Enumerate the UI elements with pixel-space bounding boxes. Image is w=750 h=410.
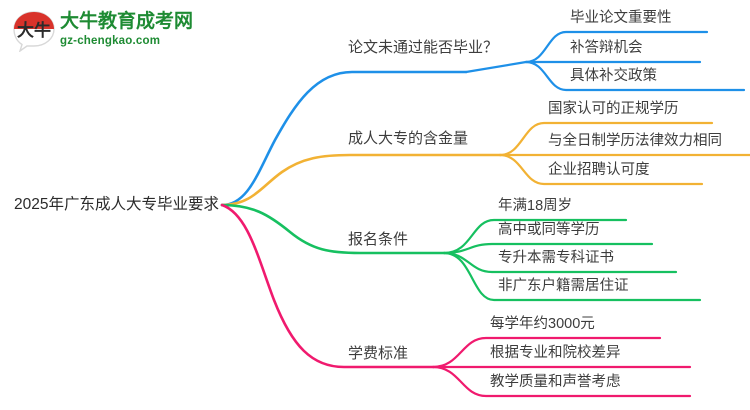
leaf-label-2-3: 企业招聘认可度 [548,163,650,178]
branch-line-2 [222,155,500,205]
logo-site-name: 大牛教育成考网 [60,11,192,33]
logo-wordmark: 大牛教育成考网 gz-chengkao.com [60,11,192,48]
branch-line-3 [222,205,444,253]
site-logo: 大牛 大牛教育成考网 gz-chengkao.com [12,8,192,56]
branch-line-1-tail [466,62,526,72]
branch-line-4 [222,205,433,367]
leaf-label-3-3: 专升本需专科证书 [498,251,614,266]
branch-label-4: 学费标准 [348,346,408,361]
leaf-label-4-1: 每学年约3000元 [490,317,595,332]
branch-label-2: 成人大专的含金量 [348,131,468,146]
branch-label-1: 论文未通过能否毕业？ [348,40,498,55]
leaf-label-2-1: 国家认可的正规学历 [548,102,679,117]
svg-text:大牛: 大牛 [17,20,51,40]
mindmap-root-label: 2025年广东成人大专毕业要求 [14,197,219,213]
leaf-label-1-2: 补答辩机会 [570,41,643,56]
leaf-label-2-2: 与全日制学历法律效力相同 [548,134,722,149]
leaf-label-3-4: 非广东户籍需居住证 [498,279,629,294]
branch-label-3: 报名条件 [348,232,408,247]
mindmap-canvas: 大牛 大牛教育成考网 gz-chengkao.com [0,0,750,410]
leaf-label-1-1: 毕业论文重要性 [570,11,672,26]
leaf-label-1-3: 具体补交政策 [570,69,657,84]
leaf-label-3-1: 年满18周岁 [498,199,572,214]
leaf-label-4-2: 根据专业和院校差异 [490,346,621,361]
logo-bubble-icon: 大牛 [12,10,56,52]
leaf-label-4-3: 教学质量和声誉考虑 [490,375,621,390]
logo-domain: gz-chengkao.com [60,34,192,48]
leaf-label-3-2: 高中或同等学历 [498,223,600,238]
